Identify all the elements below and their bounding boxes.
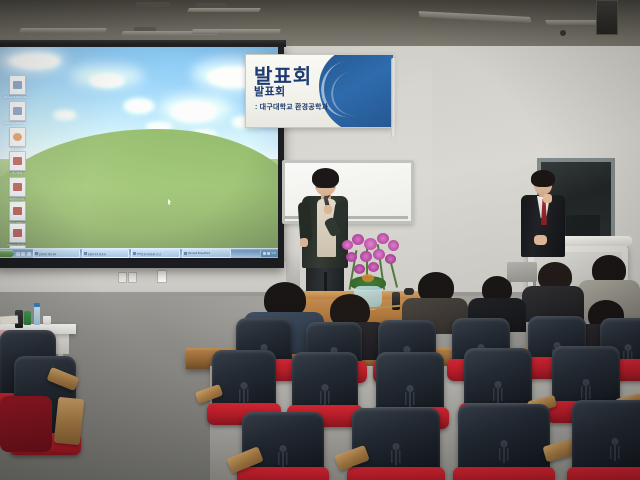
wall-thermometer — [391, 58, 396, 140]
banner-swoosh-graphic — [319, 54, 394, 128]
seat-armrest — [54, 397, 85, 445]
hand — [543, 194, 552, 203]
banner-organization: : 대구대학교 환경공학과 — [255, 102, 328, 112]
seat-fabric — [0, 396, 52, 452]
orchid-arrangement — [340, 232, 406, 298]
auditorium-seat[interactable] — [458, 404, 550, 480]
wall-thermometer-bulb — [390, 136, 397, 143]
green-can[interactable] — [24, 311, 31, 325]
hair — [312, 168, 339, 188]
ceiling-sensor — [560, 30, 566, 36]
auditorium-seat[interactable] — [212, 350, 276, 416]
water-bottle[interactable] — [34, 306, 40, 325]
right-hand — [324, 205, 332, 214]
screen-vignette — [0, 47, 278, 258]
power-outlet[interactable] — [118, 272, 127, 283]
seat-emblem — [607, 438, 623, 468]
thermos — [392, 292, 400, 310]
auditorium-seat[interactable] — [572, 400, 640, 480]
power-outlet[interactable] — [157, 270, 167, 283]
lecture-hall-photo: Microsoft Office Ex... Microsoft Office … — [0, 0, 640, 480]
auditorium-seat[interactable] — [242, 412, 324, 480]
ceiling-vent — [196, 3, 226, 8]
ceiling-vent — [136, 2, 170, 7]
ceiling-vent — [134, 27, 156, 31]
seat-emblem — [496, 440, 512, 470]
banner-subtitle: 발표회 — [254, 83, 286, 99]
auditorium-seat[interactable] — [352, 408, 440, 480]
wall-speaker — [596, 0, 618, 35]
power-outlet[interactable] — [128, 272, 137, 283]
ceiling-light-fixture — [19, 28, 107, 33]
paper-sheet[interactable] — [0, 315, 18, 324]
hair — [531, 170, 555, 187]
ceiling-light-fixture — [187, 8, 261, 12]
left-hand — [300, 238, 308, 247]
bottle-cap — [34, 303, 40, 307]
clasped-hands — [534, 235, 547, 245]
ceiling-light-fixture — [191, 29, 281, 34]
desk-object — [404, 288, 414, 295]
paper-cup[interactable] — [43, 316, 51, 325]
auditorium-seat[interactable] — [292, 352, 358, 418]
projection-screen: Microsoft Office Ex... Microsoft Office … — [0, 47, 278, 258]
event-banner: 발표회 발표회 : 대구대학교 환경공학과 — [245, 54, 394, 128]
